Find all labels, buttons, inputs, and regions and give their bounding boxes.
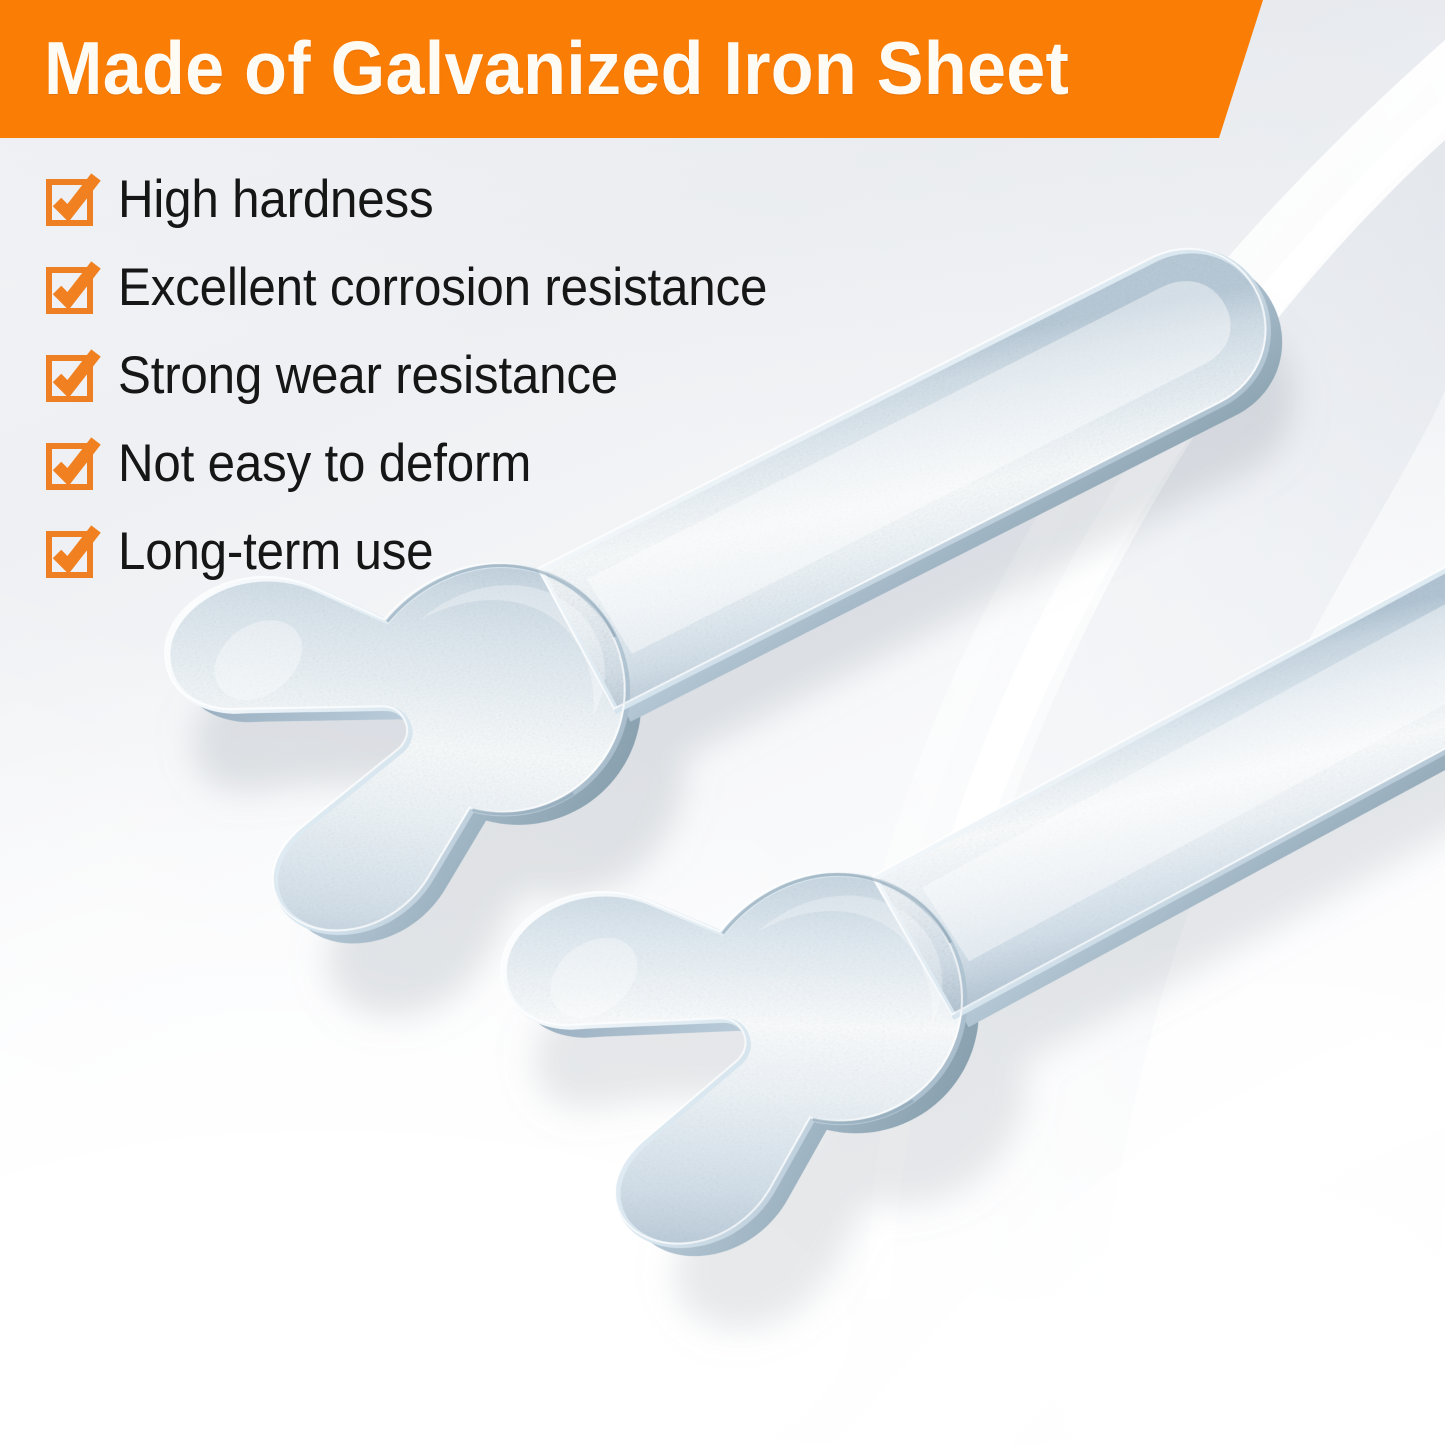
product-feature-image: Made of Galvanized Iron Sheet High hardn… [0,0,1445,1445]
page-title: Made of Galvanized Iron Sheet [44,26,1119,110]
header-banner: Made of Galvanized Iron Sheet [0,0,1272,138]
checked-checkbox-icon [46,438,98,490]
feature-list: High hardness Excellent corrosion resist… [46,167,1006,607]
feature-item-corrosion-resistance: Excellent corrosion resistance [46,255,1006,321]
feature-item-wear-resistance: Strong wear resistance [46,343,1006,409]
feature-item-not-easy-to-deform: Not easy to deform [46,431,1006,497]
feature-label: Not easy to deform [118,435,531,493]
checked-checkbox-icon [46,526,98,578]
feature-item-long-term-use: Long-term use [46,519,1006,585]
feature-label: High hardness [118,171,433,229]
checked-checkbox-icon [46,174,98,226]
checked-checkbox-icon [46,262,98,314]
feature-label: Strong wear resistance [118,347,618,405]
feature-label: Excellent corrosion resistance [118,259,767,317]
feature-item-high-hardness: High hardness [46,167,1006,233]
checked-checkbox-icon [46,350,98,402]
feature-label: Long-term use [118,523,433,581]
